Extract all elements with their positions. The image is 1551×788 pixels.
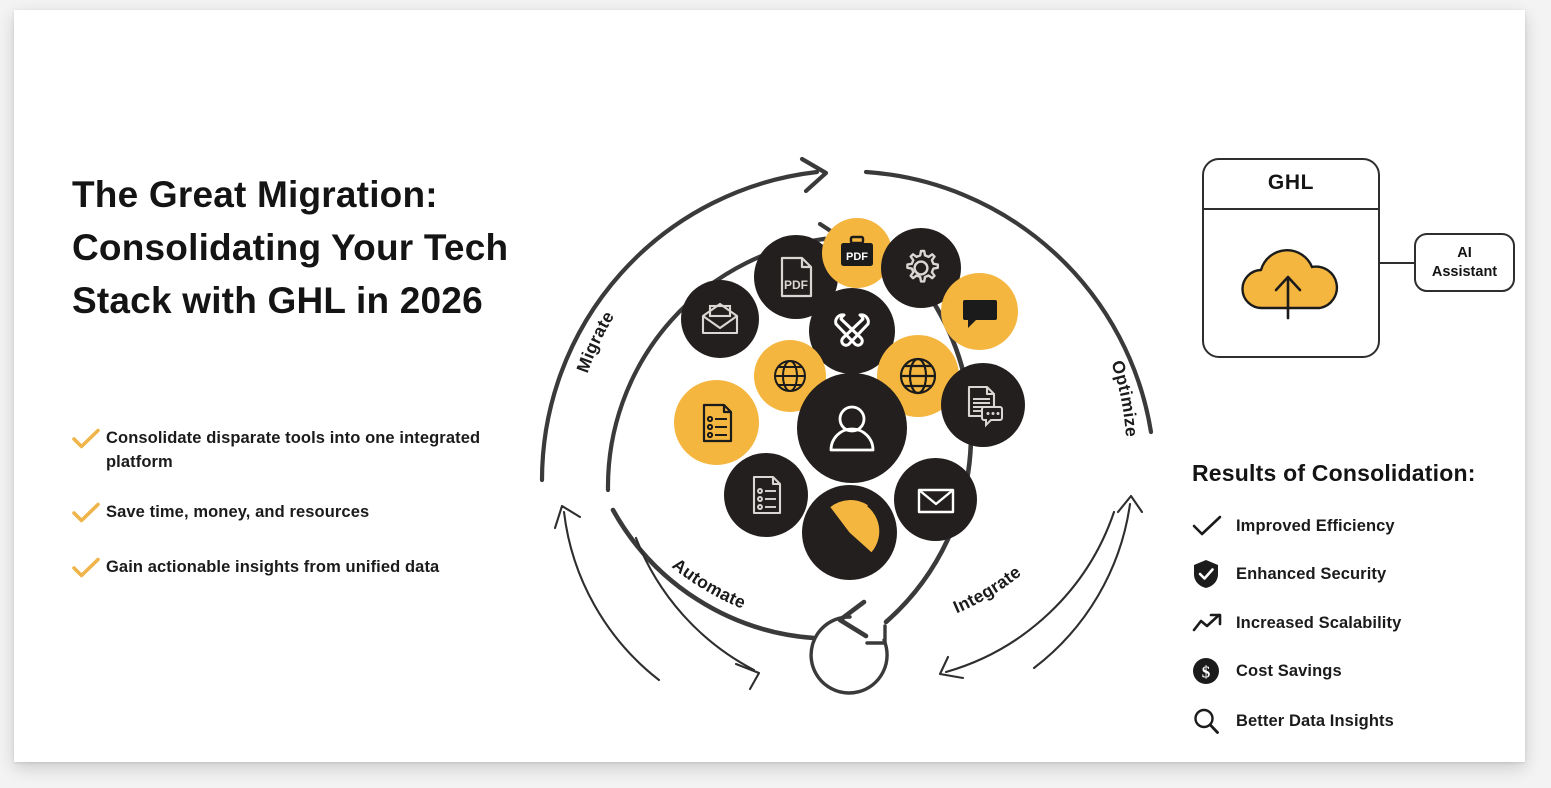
migrate-arrowhead (555, 506, 580, 528)
ai-assistant-label-line2: Assistant (1432, 263, 1497, 282)
outer-arc-right (866, 172, 1151, 432)
list-item-label: Save time, money, and resources (106, 500, 369, 524)
benefits-list: Consolidate disparate tools into one int… (72, 426, 542, 610)
list-item: Consolidate disparate tools into one int… (72, 426, 542, 474)
dollar-circle-icon: $ (1192, 657, 1236, 685)
list-item-label: Cost Savings (1236, 662, 1342, 681)
list-item-label: Consolidate disparate tools into one int… (106, 426, 542, 474)
outer-arc-left (542, 172, 817, 480)
ghl-card-header: GHL (1202, 158, 1380, 210)
cycle-label-migrate: Migrate (572, 307, 618, 375)
automate-arrowhead (736, 664, 759, 689)
ghl-label: GHL (1268, 171, 1314, 195)
trend-up-icon (1192, 611, 1236, 635)
magnifier-icon (1192, 707, 1236, 735)
ai-assistant-card[interactable]: AI Assistant (1414, 233, 1515, 292)
svg-text:$: $ (1202, 663, 1211, 682)
ai-assistant-label-line1: AI (1457, 244, 1472, 263)
migrate-arrow (564, 512, 659, 680)
results-block: Results of Consolidation: Improved Effic… (1192, 460, 1532, 751)
list-item: Save time, money, and resources (72, 500, 542, 529)
infographic-card: The Great Migration: Consolidating Your … (14, 10, 1525, 762)
optimize-arrow (1034, 504, 1130, 668)
list-item: Enhanced Security (1192, 559, 1532, 589)
migration-cycle-diagram: Migrate Automate Integrate Optimize (514, 60, 1194, 740)
check-icon (1192, 515, 1236, 537)
list-item: Improved Efficiency (1192, 515, 1532, 537)
list-item: Better Data Insights (1192, 707, 1532, 735)
ghl-card[interactable]: GHL (1202, 158, 1380, 358)
results-title: Results of Consolidation: (1192, 460, 1532, 487)
ghl-assistant-connector (1380, 262, 1416, 264)
list-item: $ Cost Savings (1192, 657, 1532, 685)
list-item-label: Gain actionable insights from unified da… (106, 555, 439, 579)
list-item: Increased Scalability (1192, 611, 1532, 635)
page-title: The Great Migration: Consolidating Your … (72, 168, 542, 327)
cycle-label-integrate: Integrate (950, 562, 1025, 618)
shield-check-icon (1192, 559, 1236, 589)
list-item-label: Better Data Insights (1236, 712, 1394, 731)
inner-arc-left (608, 238, 832, 490)
inner-arc-lower-left (613, 510, 814, 638)
check-icon (72, 555, 106, 584)
list-item-label: Increased Scalability (1236, 614, 1401, 633)
check-icon (72, 426, 106, 455)
cycle-label-optimize: Optimize (1107, 358, 1142, 438)
inner-arc-right (876, 238, 971, 622)
refresh-loop-icon (811, 617, 887, 693)
list-item: Gain actionable insights from unified da… (72, 555, 542, 584)
list-item-label: Enhanced Security (1236, 565, 1386, 584)
cloud-upload-icon (1202, 210, 1380, 358)
list-item-label: Improved Efficiency (1236, 517, 1395, 536)
title-block: The Great Migration: Consolidating Your … (72, 168, 542, 327)
inner-arc-bottom-arrowhead (840, 602, 866, 636)
check-icon (72, 500, 106, 529)
